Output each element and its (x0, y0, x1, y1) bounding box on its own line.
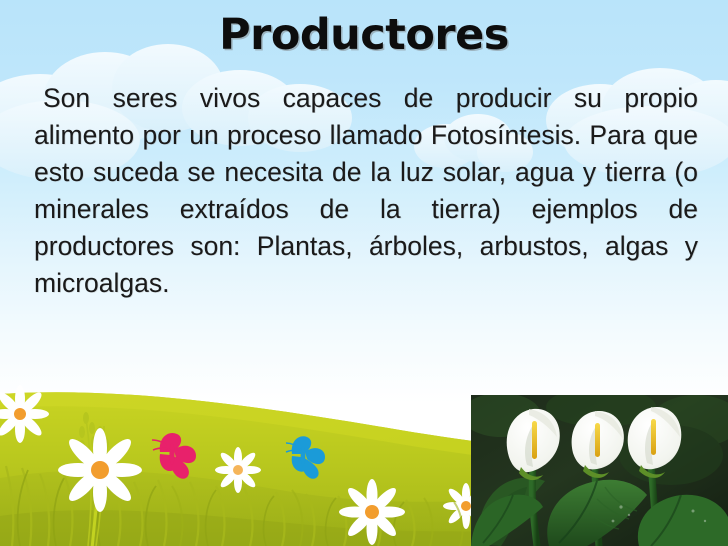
slide-body-text: Son seres vivos capaces de producir su p… (34, 80, 698, 339)
slide-title: Productores (0, 14, 728, 57)
slide-canvas: Productores Son seres vivos capaces de p… (0, 0, 728, 546)
daisy-flower (215, 447, 261, 493)
daisy-flower (339, 479, 405, 545)
calla-lily-photo (471, 395, 728, 546)
